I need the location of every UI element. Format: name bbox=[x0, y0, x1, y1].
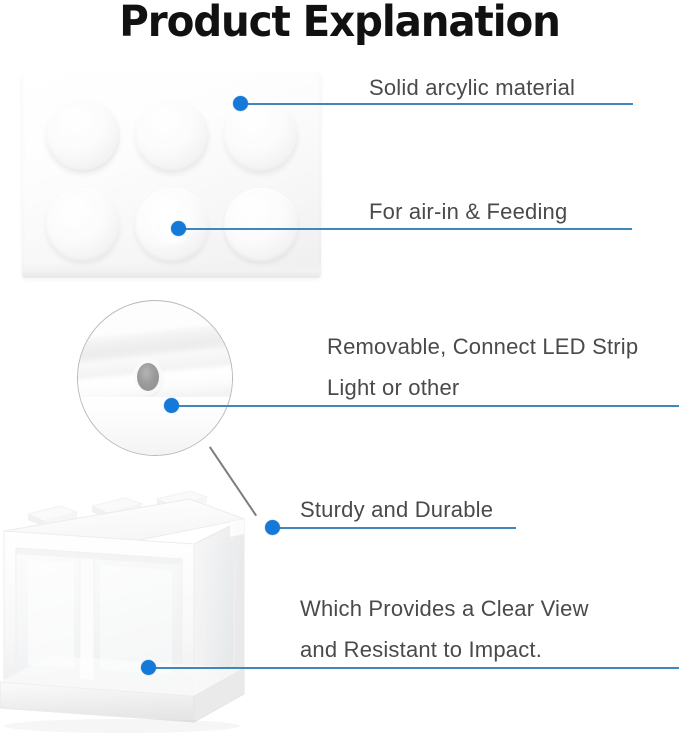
brick-stud bbox=[46, 188, 120, 262]
brick-stud bbox=[46, 98, 120, 172]
callout-dot-sturdy-and-durable[interactable] bbox=[265, 520, 280, 535]
callout-rule-clear-view bbox=[149, 667, 679, 669]
port-hole-icon bbox=[137, 363, 159, 391]
callout-dot-clear-view[interactable] bbox=[141, 660, 156, 675]
callout-rule-solid-acrylic-material bbox=[241, 103, 633, 105]
callout-label-clear-view-line1: Which Provides a Clear View bbox=[300, 591, 589, 627]
callout-label-removable-led-strip-line1: Removable, Connect LED Strip bbox=[327, 329, 638, 365]
callout-label-sturdy-and-durable: Sturdy and Durable bbox=[300, 492, 493, 528]
callout-label-removable-led-strip-line2: Light or other bbox=[327, 370, 459, 406]
callout-rule-sturdy-and-durable bbox=[273, 527, 516, 529]
product-image-fish-tank bbox=[0, 486, 284, 736]
magnifier-circle-port-detail bbox=[77, 300, 233, 456]
callout-rule-removable-led-strip bbox=[172, 405, 679, 407]
brick-stud bbox=[135, 98, 209, 172]
brick-stud bbox=[224, 188, 298, 262]
callout-label-air-in-and-feeding: For air-in & Feeding bbox=[369, 194, 567, 230]
callout-dot-removable-led-strip[interactable] bbox=[164, 398, 179, 413]
callout-dot-solid-acrylic-material[interactable] bbox=[233, 96, 248, 111]
callout-rule-air-in-and-feeding bbox=[179, 228, 632, 230]
callout-label-solid-acrylic-material: Solid arcylic material bbox=[369, 70, 575, 106]
page-title: Product Explanation bbox=[20, 0, 658, 48]
callout-dot-air-in-and-feeding[interactable] bbox=[171, 221, 186, 236]
callout-label-clear-view-line2: and Resistant to Impact. bbox=[300, 632, 542, 668]
